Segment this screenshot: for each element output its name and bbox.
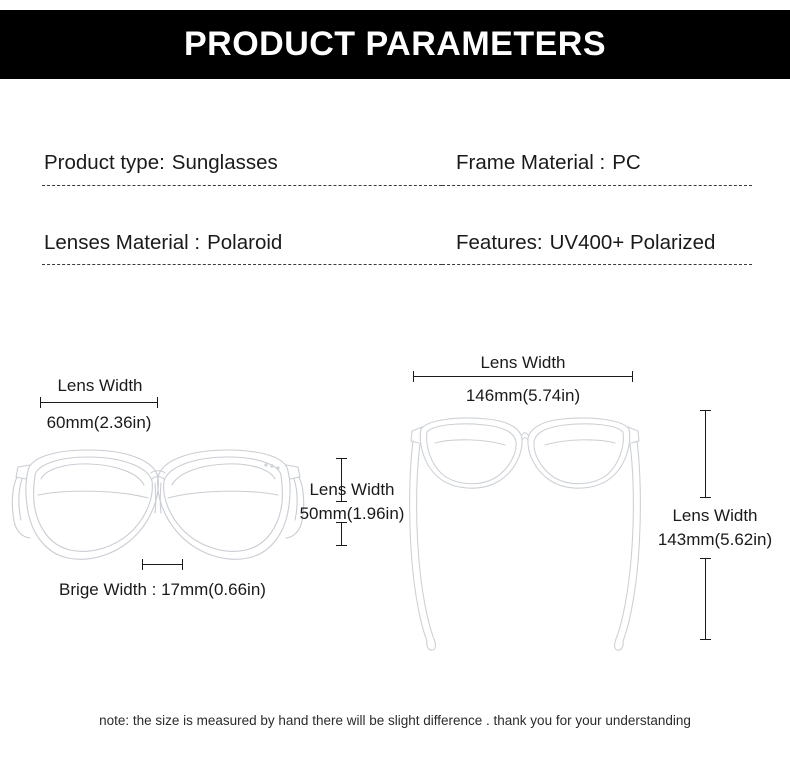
front-lens-height-label: Lens Width 50mm(1.96in) bbox=[292, 478, 412, 526]
rear-total-width-label: Lens Width bbox=[463, 351, 583, 375]
rear-total-width-value: 146mm(5.74in) bbox=[453, 384, 593, 408]
rear-total-width-dimension-line bbox=[413, 376, 633, 377]
parameter-label: Frame Material : bbox=[456, 151, 605, 174]
title-banner: PRODUCT PARAMETERS bbox=[0, 10, 790, 79]
measurement-disclaimer: note: the size is measured by hand there… bbox=[0, 713, 790, 728]
front-lens-width-value: 60mm(2.36in) bbox=[33, 411, 165, 435]
parameter-label: Features: bbox=[456, 231, 543, 254]
parameter-label: Lenses Material : bbox=[44, 231, 200, 254]
parameter-frame-material: Frame Material :PC bbox=[442, 150, 752, 186]
parameters-table: Product type:Sunglasses Frame Material :… bbox=[42, 150, 752, 265]
front-lens-width-label: Lens Width bbox=[40, 374, 160, 398]
sunglasses-rear-view-illustration bbox=[405, 413, 645, 658]
rear-temple-length-label: Lens Width 143mm(5.62in) bbox=[640, 504, 790, 552]
parameter-label: Product type: bbox=[44, 151, 165, 174]
front-lens-width-dimension-line bbox=[40, 402, 158, 403]
rear-temple-length-dimension-line-upper bbox=[705, 410, 706, 498]
row-spacer bbox=[42, 186, 752, 230]
bridge-width-label: Brige Width : 17mm(0.66in) bbox=[35, 578, 290, 602]
rear-temple-length-dimension-line-lower bbox=[705, 558, 706, 640]
parameter-value: PC bbox=[612, 151, 640, 174]
parameter-product-type: Product type:Sunglasses bbox=[42, 150, 442, 186]
parameter-row: Lenses Material :Polaroid Features:UV400… bbox=[42, 230, 752, 266]
page-title: PRODUCT PARAMETERS bbox=[184, 25, 606, 64]
parameter-features: Features:UV400+ Polarized bbox=[442, 230, 752, 266]
parameter-value: Polaroid bbox=[207, 231, 282, 254]
parameter-row: Product type:Sunglasses Frame Material :… bbox=[42, 150, 752, 186]
front-lens-height-dimension-line-lower bbox=[341, 522, 342, 546]
parameter-lenses-material: Lenses Material :Polaroid bbox=[42, 230, 442, 266]
dimension-diagrams: Lens Width 60mm(2.36in) bbox=[0, 318, 790, 688]
parameter-value: UV400+ Polarized bbox=[550, 231, 716, 254]
sunglasses-front-view-illustration bbox=[8, 443, 308, 578]
parameter-value: Sunglasses bbox=[172, 151, 278, 174]
bridge-width-dimension-line bbox=[142, 564, 183, 565]
